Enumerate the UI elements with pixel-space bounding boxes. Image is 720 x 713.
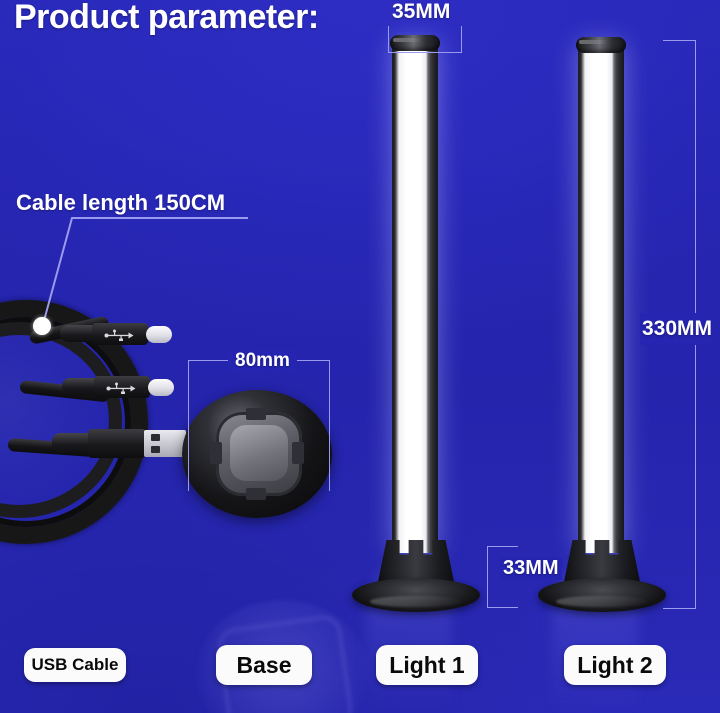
base-diameter-bracket xyxy=(188,360,330,491)
lamp-width-label: 35MM xyxy=(392,0,450,24)
base-diameter-label: 80mm xyxy=(228,350,297,372)
usb-a-pin xyxy=(151,434,160,441)
lamp-height-label: 330MM xyxy=(640,313,714,345)
stand-disc xyxy=(352,578,480,612)
usb-trident-icon xyxy=(106,382,136,395)
chip-label: Light 2 xyxy=(577,652,652,679)
chip-label: Light 1 xyxy=(389,652,464,679)
chip-base: Base xyxy=(216,645,312,685)
light-bar-2 xyxy=(578,42,624,553)
chip-label: USB Cable xyxy=(32,655,119,675)
light-stand-1 xyxy=(352,540,480,612)
usb-c-tip xyxy=(148,379,174,396)
light-bar-panel xyxy=(578,42,624,553)
base-height-label: 33MM xyxy=(500,557,562,580)
usb-a-tip xyxy=(144,430,186,457)
light-bar-top-cap xyxy=(576,37,626,53)
chip-label: Base xyxy=(237,652,292,679)
product-parameter-infographic: Product parameter: xyxy=(0,0,720,713)
chip-usb-cable: USB Cable xyxy=(24,648,126,682)
light-bar-1 xyxy=(392,40,438,553)
light-bar-panel xyxy=(392,40,438,553)
chip-light-1: Light 1 xyxy=(376,645,478,685)
chip-light-2: Light 2 xyxy=(564,645,666,685)
page-title: Product parameter: xyxy=(14,0,319,37)
cable-leader-endpoint xyxy=(33,317,51,335)
lamp-width-bracket xyxy=(388,26,462,53)
usb-a-pin xyxy=(151,446,160,453)
stand-disc xyxy=(538,578,666,612)
connector-shell xyxy=(88,429,146,458)
